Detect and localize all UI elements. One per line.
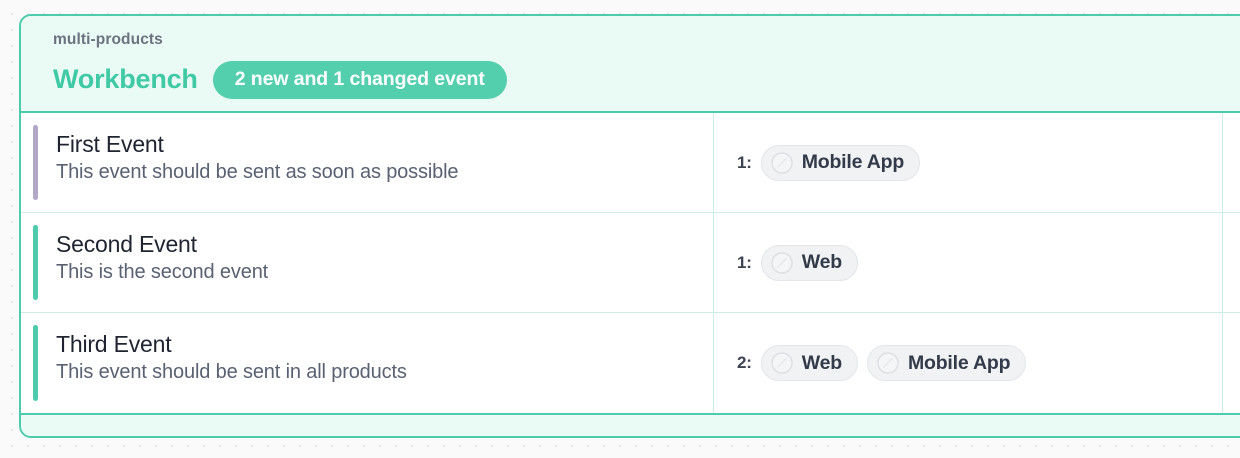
product-count: 2: [737,353,752,373]
event-cell: Second Event This is the second event [21,213,714,312]
card-footer [21,415,1240,438]
event-title: First Event [56,130,713,158]
products-cell: 1: Web [714,213,1223,312]
product-name: Mobile App [908,352,1010,375]
event-description: This event should be sent as soon as pos… [56,160,713,185]
trailing-cell [1223,213,1240,312]
placeholder-avatar-icon [877,352,899,374]
trailing-cell [1223,113,1240,212]
card-title-row: Workbench 2 new and 1 changed event [53,61,1240,99]
card-header: multi-products Workbench 2 new and 1 cha… [21,16,1240,111]
products-cell: 2: Web Mobile App [714,313,1223,413]
product-name: Web [802,352,842,375]
trailing-cell [1223,313,1240,413]
card-kicker: multi-products [53,32,1240,48]
event-cell: First Event This event should be sent as… [21,113,714,212]
products-cell: 1: Mobile App [714,113,1223,212]
event-description: This event should be sent in all product… [56,360,713,385]
row-accent-bar [33,125,38,200]
page-title: Workbench [53,66,198,93]
event-title: Third Event [56,330,713,358]
placeholder-avatar-icon [771,252,793,274]
row-accent-bar [33,325,38,401]
workbench-card: multi-products Workbench 2 new and 1 cha… [19,14,1240,438]
product-chip[interactable]: Web [761,245,858,281]
product-name: Mobile App [802,151,904,174]
row-accent-bar [33,225,38,300]
product-count: 1: [737,153,752,173]
product-name: Web [802,251,842,274]
product-chip[interactable]: Web [761,345,858,381]
product-chip[interactable]: Mobile App [867,345,1026,381]
table-row[interactable]: Third Event This event should be sent in… [21,313,1240,413]
placeholder-avatar-icon [771,352,793,374]
event-title: Second Event [56,230,713,258]
event-cell: Third Event This event should be sent in… [21,313,714,413]
event-description: This is the second event [56,260,713,285]
events-table: First Event This event should be sent as… [21,111,1240,415]
product-count: 1: [737,253,752,273]
table-row[interactable]: Second Event This is the second event 1:… [21,213,1240,313]
status-badge: 2 new and 1 changed event [213,61,507,99]
product-chip[interactable]: Mobile App [761,145,920,181]
placeholder-avatar-icon [771,152,793,174]
table-row[interactable]: First Event This event should be sent as… [21,113,1240,213]
